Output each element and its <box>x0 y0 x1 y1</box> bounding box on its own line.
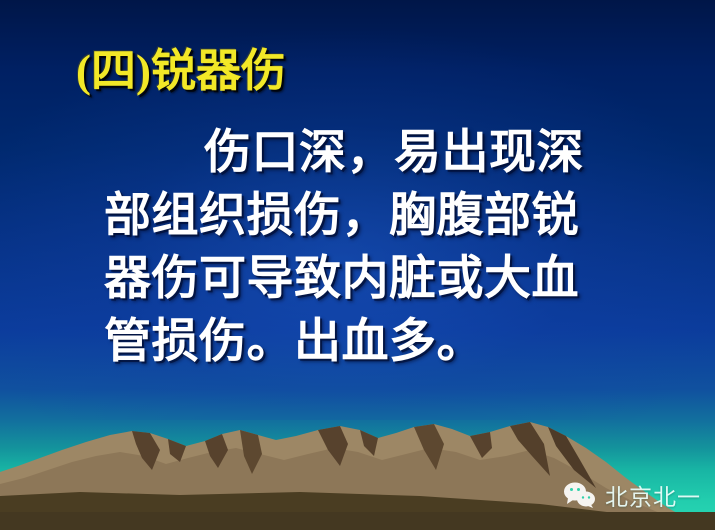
slide-body-text: 伤口深，易出现深 部组织损伤，胸腹部锐 器伤可导致内脏或大血 管损伤。出血多。 <box>104 122 652 374</box>
wechat-icon <box>563 481 597 509</box>
foreground-base <box>0 512 715 530</box>
presentation-slide: (四)锐器伤 伤口深，易出现深 部组织损伤，胸腹部锐 器伤可导致内脏或大血 管损… <box>0 0 715 530</box>
body-line-1: 伤口深，易出现深 <box>104 122 652 185</box>
watermark-label: 北京北一 <box>605 478 701 512</box>
slide-title: (四)锐器伤 <box>76 45 286 97</box>
body-line-4: 管损伤。出血多。 <box>104 311 652 374</box>
body-line-3: 器伤可导致内脏或大血 <box>104 248 652 311</box>
body-line-2: 部组织损伤，胸腹部锐 <box>104 185 652 248</box>
wechat-watermark: 北京北一 <box>563 478 701 512</box>
